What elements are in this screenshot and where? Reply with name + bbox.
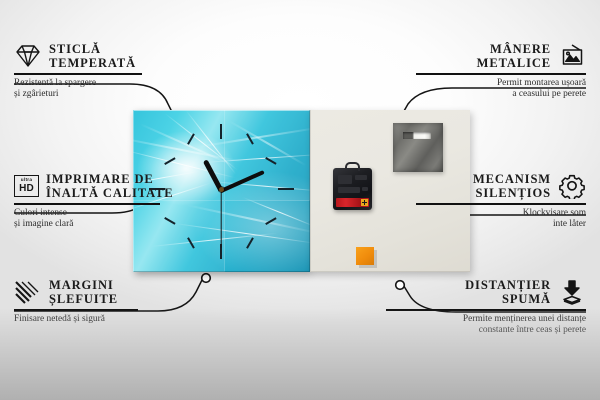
callout-margini-slefuite: MARGINI ȘLEFUITE Finisare netedă și sigu… [14, 278, 184, 325]
callout-sticla-temperata: STICLĂ TEMPERATĂ Rezistentă la spargere … [14, 42, 174, 101]
gear-icon [558, 173, 586, 199]
callout-rule [14, 73, 142, 75]
callout-rule [14, 309, 138, 311]
callout-mecanism-silentios: MECANISM SILENȚIOS Klockvisare som inte … [416, 172, 586, 231]
callout-subtitle: Permit montarea ușoară a ceasului pe per… [416, 78, 586, 101]
hanger-keyhole-slot [403, 132, 431, 139]
ultra-hd-icon: ultra HD [14, 175, 39, 197]
callout-rule [416, 203, 586, 205]
callout-title: MÂNERE METALICE [477, 42, 551, 70]
diamond-icon [14, 43, 42, 69]
callout-distantier-spuma: DISTANȚIER SPUMĂ Permite menținerea unei… [386, 278, 586, 337]
spacer-arrow-icon [558, 279, 586, 305]
callout-subtitle: Culori intense și imagine clară [14, 208, 184, 231]
callout-title: MECANISM SILENȚIOS [473, 172, 551, 200]
callout-subtitle: Rezistentă la spargere și zgârieturi [14, 78, 174, 101]
foam-spacer [356, 247, 374, 265]
callout-rule [386, 309, 586, 311]
clock-tick [220, 124, 222, 139]
infographic-canvas: STICLĂ TEMPERATĂ Rezistentă la spargere … [0, 0, 600, 400]
callout-rule [14, 203, 160, 205]
callout-imprimare-hd: ultra HD IMPRIMARE DE ÎNALTĂ CALITATE Cu… [14, 172, 184, 231]
callout-subtitle: Klockvisare som inte låter [416, 208, 586, 231]
clock-mechanism [333, 168, 372, 210]
callout-title: IMPRIMARE DE ÎNALTĂ CALITATE [46, 172, 174, 200]
clock-second-hand [220, 191, 221, 248]
battery-plus-terminal [361, 199, 368, 206]
picture-frame-icon [558, 43, 586, 69]
callout-subtitle: Permite menținerea unei distanțe constan… [386, 314, 586, 337]
ultra-hd-hd-text: HD [19, 184, 34, 194]
clock-tick [278, 188, 294, 190]
callout-title: DISTANȚIER SPUMĂ [465, 278, 551, 306]
callout-manere-metalice: MÂNERE METALICE Permit montarea ușoară a… [416, 42, 586, 101]
callout-title: MARGINI ȘLEFUITE [49, 278, 118, 306]
battery [336, 198, 369, 207]
mechanism-hanging-loop [345, 162, 360, 171]
polished-edges-icon [14, 280, 42, 304]
callout-title: STICLĂ TEMPERATĂ [49, 42, 136, 70]
metal-hanger [393, 123, 443, 172]
callout-subtitle: Finisare netedă și sigură [14, 314, 184, 325]
leader-dot-3 [202, 274, 211, 283]
clock-center-hub [219, 187, 224, 192]
callout-rule [416, 73, 586, 75]
